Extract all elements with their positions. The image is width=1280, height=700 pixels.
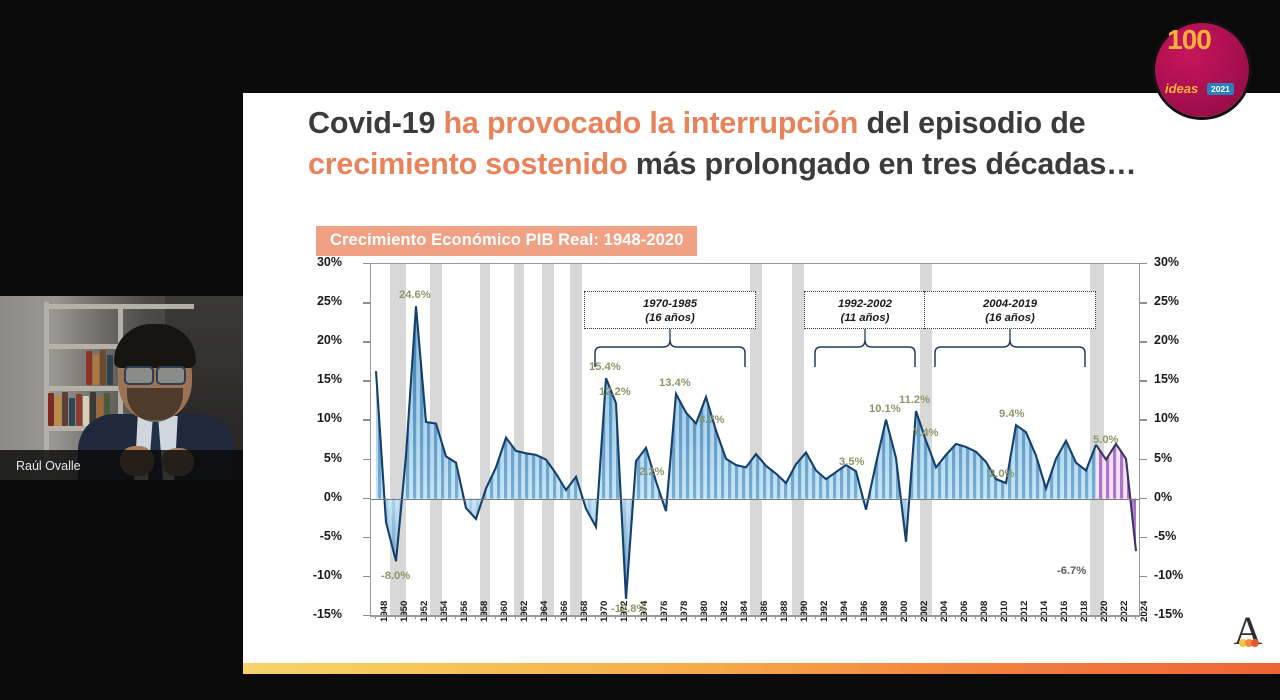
chart-data-label: 7.4% xyxy=(913,427,939,439)
x-axis-label: 1950 xyxy=(399,601,410,622)
presentation-slide: Covid-19 ha provocado la interrupción de… xyxy=(243,93,1280,663)
headline-text-3: más prolongado en tres décadas… xyxy=(628,147,1137,181)
x-axis-label: 1998 xyxy=(879,601,890,622)
x-axis-label: 1954 xyxy=(439,601,450,622)
x-axis-label: 1966 xyxy=(559,601,570,622)
x-axis-label: 1978 xyxy=(679,601,690,622)
y-axis-tick xyxy=(1140,459,1147,460)
x-axis-label: 2018 xyxy=(1079,601,1090,622)
video-participant-tile[interactable]: Raúl Ovalle xyxy=(0,296,243,480)
y-axis-label-left: 25% xyxy=(298,294,342,308)
chart-data-label: 12.2% xyxy=(599,386,631,398)
x-axis-label: 2008 xyxy=(979,601,990,622)
series-shading-negative xyxy=(371,499,1139,615)
x-axis-label: 2014 xyxy=(1039,601,1050,622)
era-label: 1970-1985 xyxy=(585,297,755,311)
x-axis-label: 1960 xyxy=(499,601,510,622)
x-axis-label: 1994 xyxy=(839,601,850,622)
y-axis-tick xyxy=(363,576,370,577)
y-axis-tick xyxy=(363,498,370,499)
era-sublabel: (16 años) xyxy=(585,311,755,325)
era-sublabel: (16 años) xyxy=(925,311,1095,325)
y-axis-tick xyxy=(363,380,370,381)
slide-bottom-gradient-strip xyxy=(243,663,1280,674)
x-axis-label: 1952 xyxy=(419,601,430,622)
logo-100-ideas-2021: 100 ideas 2021 xyxy=(1155,23,1249,117)
y-axis-tick xyxy=(1140,537,1147,538)
y-axis-label-right: -15% xyxy=(1154,607,1183,621)
x-axis-label: 2012 xyxy=(1019,601,1030,622)
x-axis-line xyxy=(370,615,1140,617)
y-axis-label-left: 20% xyxy=(298,333,342,347)
chart-data-label: 24.6% xyxy=(399,289,431,301)
logo-a-letter: A xyxy=(1226,608,1270,654)
era-annotation-box: 1970-1985(16 años) xyxy=(584,291,756,329)
era-annotation-box: 1992-2002(11 años) xyxy=(804,291,926,329)
era-brace xyxy=(932,329,1088,367)
era-brace xyxy=(592,329,748,367)
era-brace-path xyxy=(815,340,915,367)
x-axis-label: 2024 xyxy=(1139,601,1150,622)
y-axis-label-left: 5% xyxy=(298,451,342,465)
x-axis-label: 1956 xyxy=(459,601,470,622)
era-label: 1992-2002 xyxy=(805,297,925,311)
chart-data-label: 8.7% xyxy=(699,414,725,426)
era-brace xyxy=(812,329,918,367)
logo-ideas-text: ideas xyxy=(1165,81,1198,96)
headline-highlight-1: ha provocado la interrupción xyxy=(443,106,858,140)
y-axis-tick xyxy=(363,302,370,303)
headline-text-1: Covid-19 xyxy=(308,106,443,140)
y-axis-label-right: 30% xyxy=(1154,255,1179,269)
chart-data-label: 9.4% xyxy=(999,408,1025,420)
y-axis-label-left: -10% xyxy=(298,568,342,582)
shelf-divider xyxy=(44,302,49,462)
era-sublabel: (11 años) xyxy=(805,311,925,325)
x-axis-label: 1986 xyxy=(759,601,770,622)
y-axis-label-right: 15% xyxy=(1154,372,1179,386)
headline-text-2: del episodio de xyxy=(858,106,1085,140)
x-axis-label: 2022 xyxy=(1119,601,1130,622)
chart-title-banner: Crecimiento Económico PIB Real: 1948-202… xyxy=(316,226,697,256)
x-axis-label: 2016 xyxy=(1059,601,1070,622)
zero-baseline xyxy=(371,499,1139,500)
chart-data-label: 13.4% xyxy=(659,377,691,389)
x-axis-label: 1964 xyxy=(539,601,550,622)
y-axis-tick xyxy=(363,459,370,460)
glasses-left-lens xyxy=(124,366,154,385)
y-axis-tick xyxy=(363,537,370,538)
x-axis-label: 1990 xyxy=(799,601,810,622)
x-axis-label: 1982 xyxy=(719,601,730,622)
y-axis-label-left: 0% xyxy=(298,490,342,504)
x-axis-label: 2010 xyxy=(999,601,1010,622)
x-axis-label: 1962 xyxy=(519,601,530,622)
logo-dot-red xyxy=(1251,639,1259,647)
x-axis-label: 2004 xyxy=(939,601,950,622)
x-axis-label: 2006 xyxy=(959,601,970,622)
x-axis-label: 1968 xyxy=(579,601,590,622)
x-axis-label: 1976 xyxy=(659,601,670,622)
x-axis-label: 2020 xyxy=(1099,601,1110,622)
y-axis-tick xyxy=(1140,380,1147,381)
y-axis-label-left: -15% xyxy=(298,607,342,621)
x-axis-label: 2002 xyxy=(919,601,930,622)
y-axis-tick xyxy=(1140,263,1147,264)
y-axis-tick xyxy=(1140,419,1147,420)
y-axis-label-right: -10% xyxy=(1154,568,1183,582)
participant-name-label: Raúl Ovalle xyxy=(16,459,81,473)
y-axis-tick xyxy=(363,341,370,342)
x-axis-label: 1988 xyxy=(779,601,790,622)
era-label: 2004-2019 xyxy=(925,297,1095,311)
logo-100-text: 100 xyxy=(1155,23,1223,57)
slide-headline: Covid-19 ha provocado la interrupción de… xyxy=(308,103,1208,184)
logo-year-badge: 2021 xyxy=(1207,83,1234,95)
y-axis-tick xyxy=(1140,576,1147,577)
x-axis-label: 1992 xyxy=(819,601,830,622)
y-axis-label-left: 30% xyxy=(298,255,342,269)
chart-data-label: 5.0% xyxy=(1093,434,1119,446)
x-axis-label: 1958 xyxy=(479,601,490,622)
y-axis-tick xyxy=(1140,302,1147,303)
y-axis-tick xyxy=(363,419,370,420)
chart-data-label: 11.2% xyxy=(899,394,930,406)
era-brace-path xyxy=(595,340,745,367)
x-axis-label: 1948 xyxy=(379,601,390,622)
y-axis-tick xyxy=(363,615,370,616)
y-axis-tick xyxy=(1140,341,1147,342)
y-axis-label-left: 15% xyxy=(298,372,342,386)
x-axis-label: 1970 xyxy=(599,601,610,622)
screen: Raúl Ovalle Covid-19 ha provocado la int… xyxy=(0,0,1280,700)
x-axis-label: 1980 xyxy=(699,601,710,622)
chart-data-label: -6.7% xyxy=(1057,565,1086,577)
chart-data-label: -12.8% xyxy=(611,603,646,615)
y-axis-label-right: 5% xyxy=(1154,451,1172,465)
glasses-right-lens xyxy=(156,366,186,385)
chart-data-label: 2.2% xyxy=(639,466,665,478)
y-axis-label-left: 10% xyxy=(298,411,342,425)
y-axis-label-right: -5% xyxy=(1154,529,1176,543)
y-axis-tick xyxy=(1140,498,1147,499)
chart-data-label: 2.0% xyxy=(989,468,1015,480)
y-axis-label-right: 20% xyxy=(1154,333,1179,347)
logo-a-mark: A xyxy=(1226,608,1270,656)
y-axis-label-right: 0% xyxy=(1154,490,1172,504)
era-annotation-box: 2004-2019(16 años) xyxy=(924,291,1096,329)
chart-data-label: -8.0% xyxy=(381,570,410,582)
x-axis-label: 1996 xyxy=(859,601,870,622)
y-axis-tick xyxy=(363,263,370,264)
x-axis-label: 1984 xyxy=(739,601,750,622)
era-brace-path xyxy=(935,340,1085,367)
y-axis-label-right: 10% xyxy=(1154,411,1179,425)
chart-data-label: 3.5% xyxy=(839,456,865,468)
x-axis-label: 2000 xyxy=(899,601,910,622)
headline-highlight-2: crecimiento sostenido xyxy=(308,147,628,181)
series-shading-forecast xyxy=(371,499,1139,615)
chart-data-label: 10.1% xyxy=(869,403,901,415)
y-axis-label-left: -5% xyxy=(298,529,342,543)
y-axis-label-right: 25% xyxy=(1154,294,1179,308)
